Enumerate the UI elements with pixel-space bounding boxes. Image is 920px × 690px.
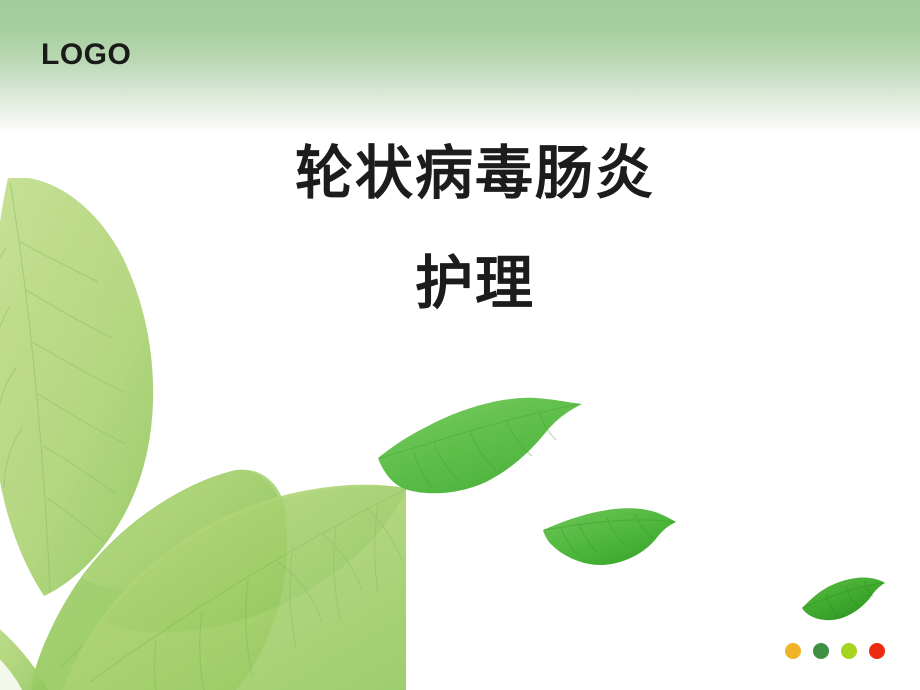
slide-title-line-2: 护理: [160, 254, 790, 312]
slide-title: 轮状病毒肠炎 护理: [160, 140, 790, 312]
slide-title-line-1: 轮状病毒肠炎: [160, 144, 790, 202]
leaf-icon-medium: [541, 496, 678, 569]
dot-amber: [785, 643, 801, 659]
leaf-icon-large: [374, 372, 586, 500]
dot-green: [813, 643, 829, 659]
presentation-slide: LOGO: [0, 0, 920, 690]
dot-lime: [841, 643, 857, 659]
decorative-dot-row: [785, 643, 885, 659]
dot-red: [869, 643, 885, 659]
header-gradient-band: [0, 0, 920, 132]
logo-text: LOGO: [41, 38, 131, 72]
leaf-icon-small: [800, 572, 886, 624]
